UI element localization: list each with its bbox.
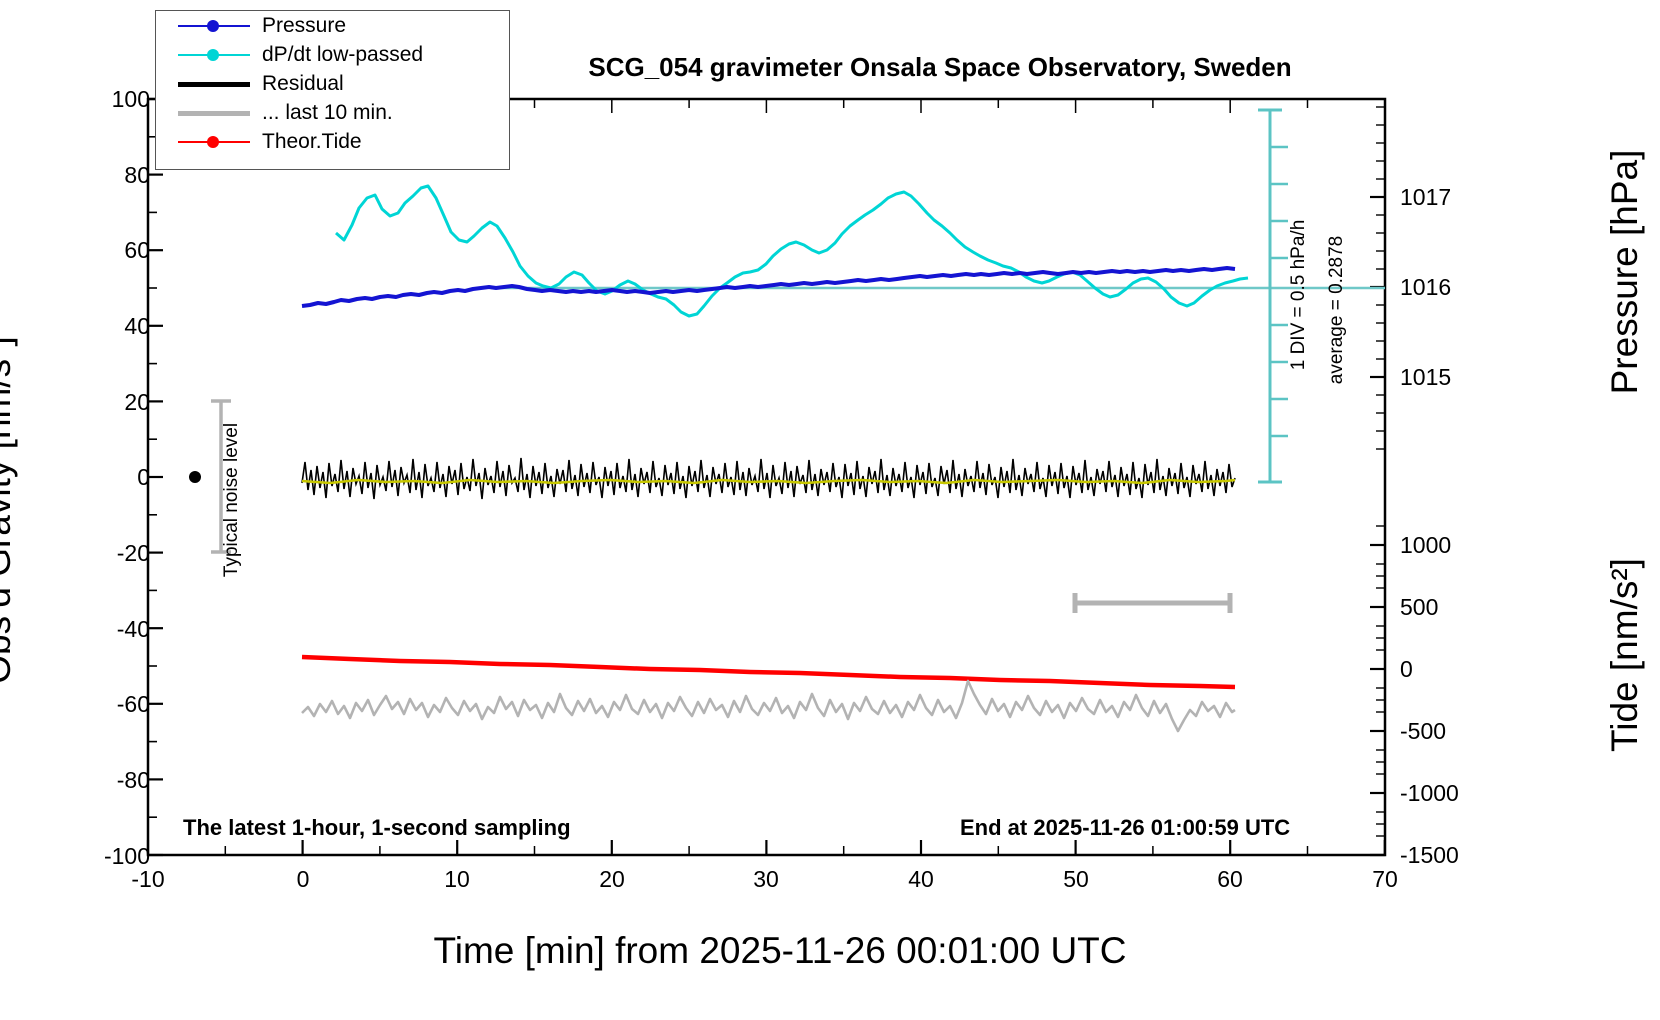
series-residual [302,458,1235,499]
legend-item-theortide[interactable]: Theor.Tide [178,127,509,156]
ytick-left-5: 0 [137,464,150,491]
footer-left-text: The latest 1-hour, 1-second sampling [183,815,571,841]
legend-item-pressure[interactable]: Pressure [178,11,509,40]
ytick-left-3: 40 [124,313,150,340]
noise-level-dot [189,471,201,483]
xtick-8: 70 [1372,866,1398,893]
ytick-tide-1: 500 [1400,594,1438,621]
ytick-left-4: 20 [124,389,150,416]
ytick-left-1: 80 [124,162,150,189]
xtick-0: -10 [131,866,164,893]
series-dpdt-lowpassed [336,186,1248,316]
chart-root: SCG_054 gravimeter Onsala Space Observat… [0,0,1660,1020]
xtick-3: 20 [599,866,625,893]
xtick-1: 0 [297,866,310,893]
legend-label-residual: Residual [262,72,344,96]
xtick-6: 50 [1063,866,1089,893]
ytick-left-9: -80 [117,767,150,794]
x-axis-ticks [148,840,1385,855]
legend-swatch-pressure [178,16,250,36]
series-last-10-min [302,681,1235,731]
dpdt-average-label: average = 0.2878 [1326,236,1348,384]
ytick-left-0: 100 [112,86,150,113]
xtick-4: 30 [753,866,779,893]
legend-swatch-theortide [178,132,250,152]
ytick-pressure-1: 1016 [1400,274,1451,301]
legend-item-dpdt[interactable]: dP/dt low-passed [178,40,509,69]
ytick-left-8: -60 [117,691,150,718]
legend-swatch-last10min [178,103,250,123]
ytick-left-2: 60 [124,237,150,264]
y-axis-minor-ticks-tide [1376,526,1385,836]
y-axis-minor-ticks-pressure [1376,107,1385,449]
legend-item-last10min[interactable]: ... last 10 min. [178,98,509,127]
ytick-tide-4: -1000 [1400,780,1459,807]
ytick-left-6: -20 [117,540,150,567]
ytick-left-7: -40 [117,616,150,643]
dpdt-div-label: 1 DIV = 0.5 hPa/h [1288,220,1310,371]
legend-label-last10min: ... last 10 min. [262,101,393,125]
legend-swatch-dpdt [178,45,250,65]
xtick-7: 60 [1217,866,1243,893]
dpdt-scale-ticks [1270,147,1288,436]
legend-label-theortide: Theor.Tide [262,130,362,154]
footer-right-text: End at 2025-11-26 01:00:59 UTC [960,815,1290,841]
legend-swatch-residual [178,74,250,94]
ytick-tide-3: -500 [1400,718,1446,745]
series-theor-tide [302,657,1235,687]
ytick-tide-2: 0 [1400,656,1413,683]
xtick-5: 40 [908,866,934,893]
xtick-2: 10 [444,866,470,893]
noise-level-label: Typical noise level [221,423,243,577]
ytick-tide-0: 1000 [1400,532,1451,559]
ytick-pressure-2: 1015 [1400,364,1451,391]
ytick-tide-5: -1500 [1400,842,1459,869]
legend-label-dpdt: dP/dt low-passed [262,43,423,67]
legend-label-pressure: Pressure [262,14,346,38]
ytick-pressure-0: 1017 [1400,184,1451,211]
legend: Pressure dP/dt low-passed Residual ... l… [155,10,510,170]
legend-item-residual[interactable]: Residual [178,69,509,98]
